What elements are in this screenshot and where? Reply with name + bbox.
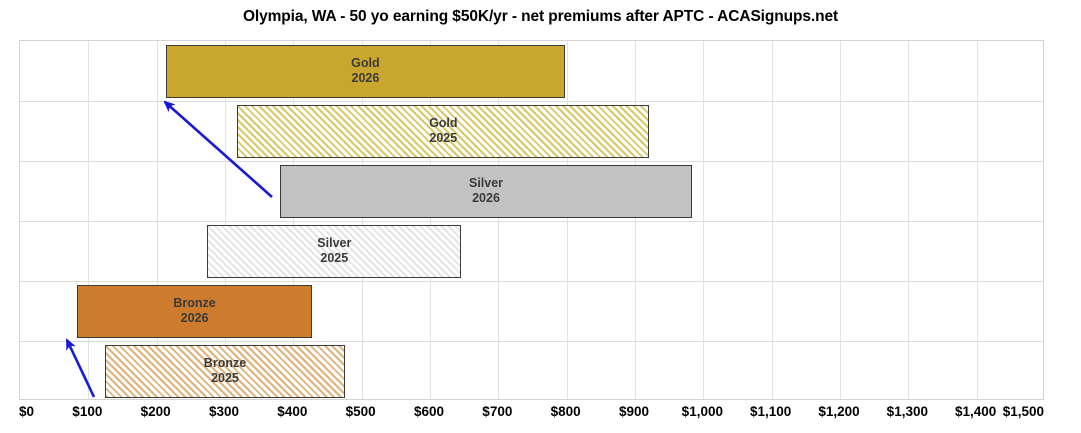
bar-year-label: 2026 [181,311,209,326]
gridline-vertical [908,41,909,399]
gridline-horizontal [20,281,1043,282]
x-tick-label: $100 [72,404,102,419]
bar-year-label: 2025 [211,371,239,386]
x-tick-label: $600 [414,404,444,419]
gridline-vertical [88,41,89,399]
gridline-vertical [567,41,568,399]
gridline-horizontal [20,341,1043,342]
x-axis-tick-labels: $0$100$200$300$400$500$600$700$800$900$1… [0,404,1081,430]
gridline-horizontal [20,101,1043,102]
x-tick-label: $0 [19,404,34,419]
gridline-vertical [772,41,773,399]
bar-bronze-2025[interactable]: Bronze2025 [105,345,346,398]
bar-gold-2026[interactable]: Gold2026 [166,45,564,98]
gridline-horizontal [20,221,1043,222]
gridline-vertical [703,41,704,399]
bar-silver-2025[interactable]: Silver2025 [207,225,461,278]
gridline-vertical [840,41,841,399]
bar-year-label: 2026 [352,71,380,86]
x-tick-label: $700 [482,404,512,419]
x-tick-label: $1,200 [818,404,859,419]
bar-metal-label: Bronze [204,356,246,371]
x-tick-label: $200 [141,404,171,419]
bar-silver-2026[interactable]: Silver2026 [280,165,691,218]
bar-year-label: 2025 [429,131,457,146]
x-tick-label: $1,400 [955,404,996,419]
gridline-horizontal [20,161,1043,162]
bar-bronze-2026[interactable]: Bronze2026 [77,285,313,338]
bar-metal-label: Bronze [173,296,215,311]
plot-area: Gold2026Gold2025Silver2026Silver2025Bron… [19,40,1044,400]
x-tick-label: $300 [209,404,239,419]
x-tick-label: $900 [619,404,649,419]
bar-year-label: 2025 [320,251,348,266]
bar-metal-label: Gold [351,56,379,71]
bar-metal-label: Gold [429,116,457,131]
gridline-vertical [635,41,636,399]
chart-container: Olympia, WA - 50 yo earning $50K/yr - ne… [0,0,1081,433]
x-tick-label: $1,300 [887,404,928,419]
bar-year-label: 2026 [472,191,500,206]
x-tick-label: $800 [551,404,581,419]
x-tick-label: $1,000 [682,404,723,419]
bar-metal-label: Silver [317,236,351,251]
bar-metal-label: Silver [469,176,503,191]
x-tick-label: $1,100 [750,404,791,419]
bar-gold-2025[interactable]: Gold2025 [237,105,649,158]
x-tick-label: $400 [277,404,307,419]
x-tick-label: $1,500 [1003,404,1044,419]
gridline-vertical [977,41,978,399]
chart-title: Olympia, WA - 50 yo earning $50K/yr - ne… [0,8,1081,26]
x-tick-label: $500 [346,404,376,419]
